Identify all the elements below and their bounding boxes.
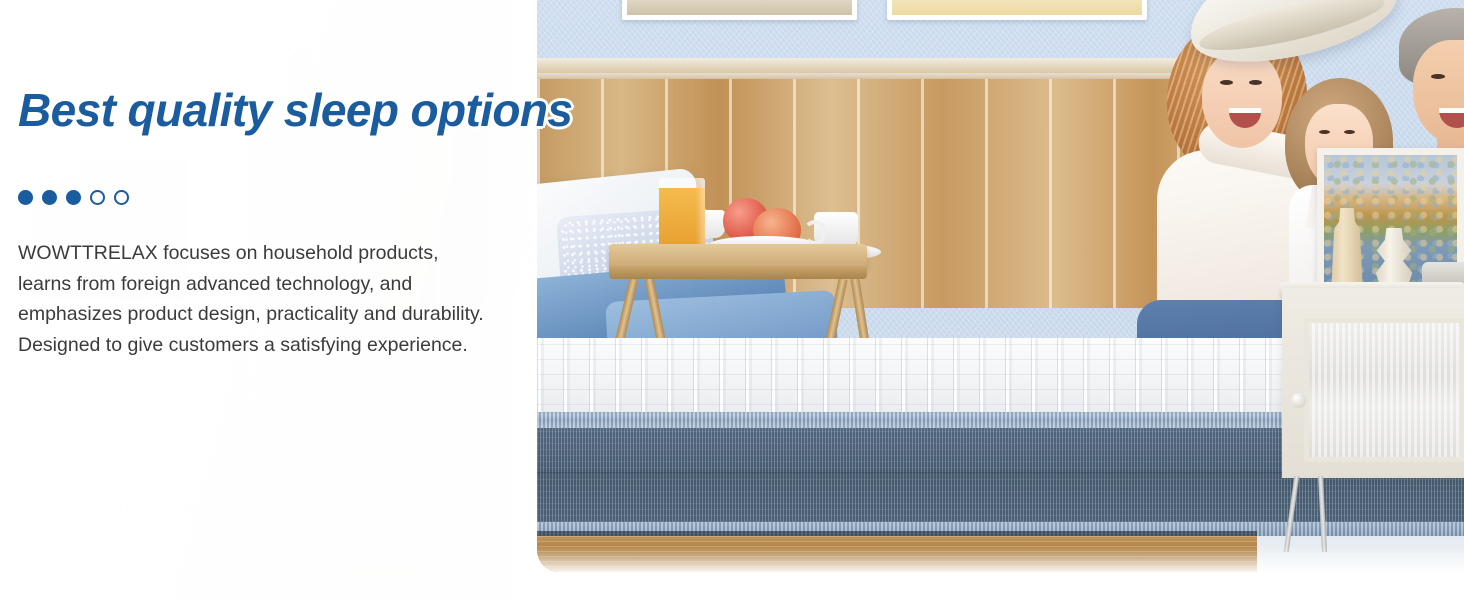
mother-eye-right (1249, 80, 1262, 85)
breakfast-tray-lip (609, 266, 867, 279)
wall-picture-left (622, 0, 857, 20)
carousel-pagination[interactable] (18, 190, 129, 205)
text-content: Best quality sleep options WOWTTRELAX fo… (0, 0, 560, 600)
nightstand-knob-icon[interactable] (1291, 393, 1306, 408)
page-title: Best quality sleep options (18, 83, 572, 137)
father-eye-left (1431, 74, 1445, 79)
pagination-dot-4[interactable] (90, 190, 105, 205)
promo-banner: Best quality sleep options WOWTTRELAX fo… (0, 0, 1464, 600)
headboard-rail (537, 58, 1237, 73)
pagination-dot-5[interactable] (114, 190, 129, 205)
girl-eye-left (1319, 130, 1330, 134)
nightstand-glass-door[interactable] (1304, 318, 1464, 462)
mother-eye-left (1220, 80, 1233, 85)
product-photo (537, 0, 1464, 572)
wooden-bed-base (537, 536, 1257, 572)
pagination-dot-2[interactable] (42, 190, 57, 205)
mother-face (1202, 50, 1282, 148)
wall-picture-right (887, 0, 1147, 20)
pagination-dot-1[interactable] (18, 190, 33, 205)
body-paragraph: WOWTTRELAX focuses on household products… (18, 238, 496, 360)
orange-juice-glass (659, 178, 705, 250)
pagination-dot-3[interactable] (66, 190, 81, 205)
girl-eye-right (1344, 130, 1355, 134)
